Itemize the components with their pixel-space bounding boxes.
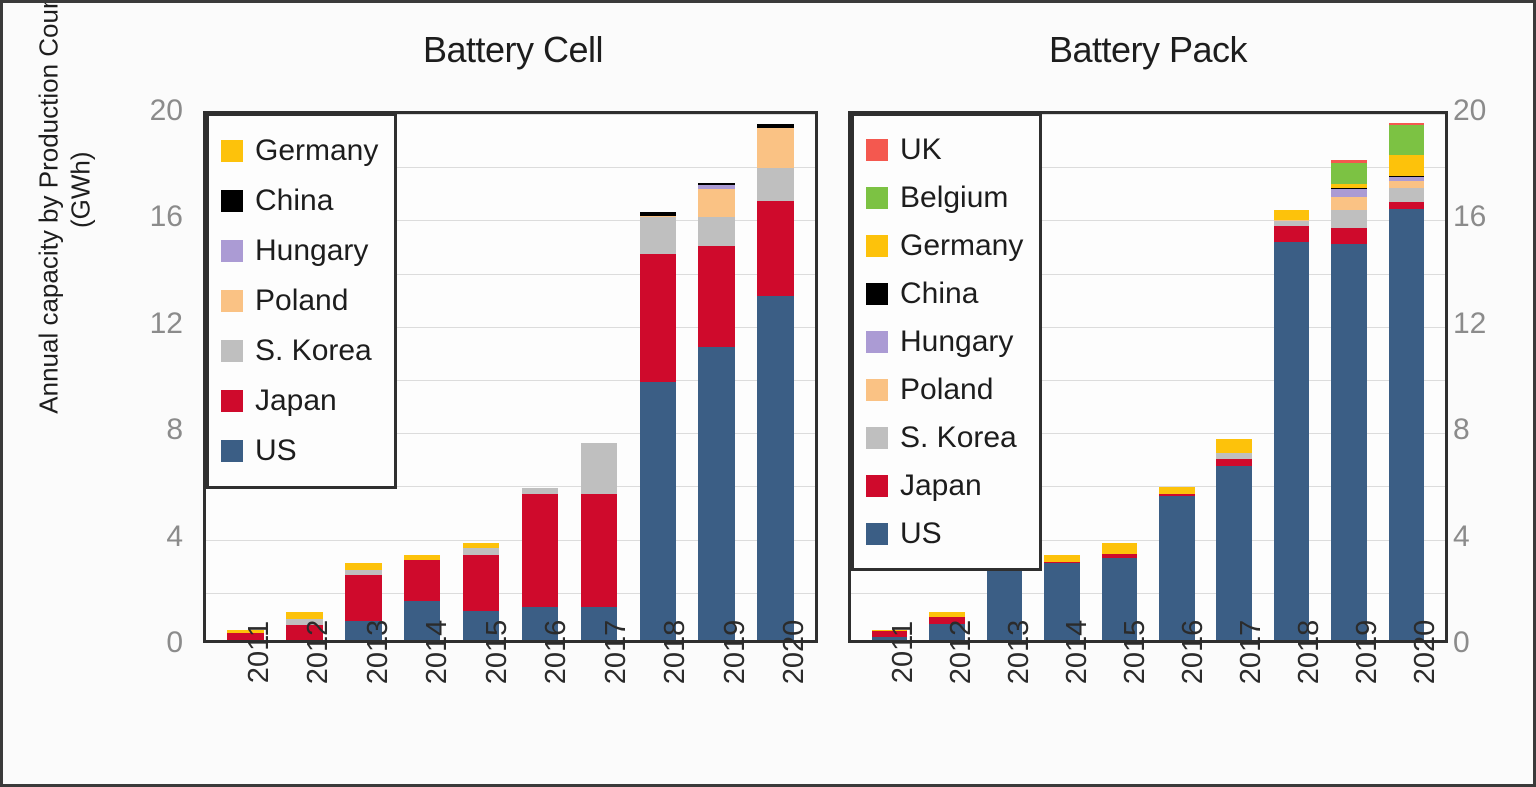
legend-swatch-icon (866, 475, 888, 497)
x-axis-labels-left: 2011201220132014201520162017201820192020 (203, 646, 818, 766)
x-tick-slot-2017: 2017 (1206, 646, 1264, 766)
bar-segment-belgium-2019 (1331, 163, 1367, 184)
stacked-bar-2016[interactable] (522, 488, 559, 640)
stacked-bar-2020[interactable] (757, 124, 794, 640)
y-tick-label-left-4: 4 (121, 522, 183, 552)
bar-segment-skorea-2020 (1389, 188, 1425, 203)
x-tick-slot-2016: 2016 (1148, 646, 1206, 766)
legend-item-china[interactable]: China (221, 176, 378, 226)
bar-slot-2019 (687, 114, 746, 640)
legend-item-us[interactable]: US (221, 426, 378, 476)
legend-label: Japan (900, 471, 982, 501)
bar-segment-us-2017 (1216, 466, 1252, 640)
bar-segment-poland-2019 (698, 189, 735, 217)
page-title-battery-cell: Battery Cell (183, 29, 843, 71)
legend-label: Hungary (900, 327, 1013, 357)
x-tick-slot-2015: 2015 (1090, 646, 1148, 766)
x-tick-slot-2015: 2015 (451, 646, 511, 766)
legend-swatch-icon (221, 190, 243, 212)
bar-segment-japan-2013 (345, 575, 382, 622)
x-tick-slot-2014: 2014 (392, 646, 452, 766)
bar-segment-us-2019 (1331, 244, 1367, 640)
bar-slot-2015 (452, 114, 511, 640)
bar-segment-japan-2019 (1331, 228, 1367, 244)
legend-label: Germany (900, 231, 1023, 261)
bar-segment-skorea-2015 (463, 548, 500, 555)
bar-slot-2018 (1263, 114, 1320, 640)
legend-battery-pack: UKBelgiumGermanyChinaHungaryPolandS. Kor… (851, 113, 1042, 571)
bar-segment-germany-2020 (1389, 155, 1425, 176)
legend-item-us[interactable]: US (866, 510, 1023, 558)
x-tick-slot-2018: 2018 (630, 646, 690, 766)
legend-battery-cell: GermanyChinaHungaryPolandS. KoreaJapanUS (206, 113, 397, 489)
bar-segment-us-2019 (698, 347, 735, 640)
bar-segment-japan-2015 (463, 555, 500, 611)
bar-segment-japan-2016 (522, 494, 559, 607)
legend-item-germany[interactable]: Germany (866, 222, 1023, 270)
y-tick-label-right-4: 4 (1453, 522, 1515, 552)
legend-label: Poland (255, 286, 348, 316)
bar-slot-2020 (1378, 114, 1435, 640)
bar-segment-germany-2014 (1044, 555, 1080, 562)
bar-segment-skorea-2019 (1331, 210, 1367, 227)
x-tick-label-2015: 2015 (481, 620, 514, 685)
legend-label: US (900, 519, 942, 549)
bar-segment-germany-2015 (1102, 543, 1138, 554)
x-tick-slot-2013: 2013 (974, 646, 1032, 766)
bar-segment-skorea-2017 (1216, 453, 1252, 460)
legend-swatch-icon (866, 331, 888, 353)
legend-label: Poland (900, 375, 993, 405)
y-axis-ticks-right: 048121620 (1453, 3, 1515, 787)
bar-slot-2016 (511, 114, 570, 640)
legend-item-japan[interactable]: Japan (866, 462, 1023, 510)
legend-item-uk[interactable]: UK (866, 126, 1023, 174)
y-tick-label-left-16: 16 (121, 202, 183, 232)
bar-slot-2018 (628, 114, 687, 640)
x-tick-slot-2020: 2020 (749, 646, 809, 766)
stacked-bar-2017[interactable] (1216, 439, 1252, 640)
x-tick-slot-2011: 2011 (213, 646, 273, 766)
figure-container: Battery Cell Battery Pack Annual capacit… (0, 0, 1536, 787)
bar-segment-skorea-2019 (698, 217, 735, 246)
bar-segment-poland-2020 (757, 128, 794, 168)
x-tick-slot-2017: 2017 (570, 646, 630, 766)
bar-segment-us-2018 (640, 382, 677, 640)
x-tick-label-2013: 2013 (362, 620, 395, 685)
x-axis-labels-right: 2011201220132014201520162017201820192020 (848, 646, 1448, 766)
stacked-bar-2018[interactable] (640, 212, 677, 640)
y-axis-title: Annual capacity by Production Country (G… (33, 0, 96, 420)
x-tick-slot-2018: 2018 (1264, 646, 1322, 766)
y-tick-label-left-8: 8 (121, 415, 183, 445)
legend-swatch-icon (866, 139, 888, 161)
stacked-bar-2019[interactable] (1331, 160, 1367, 640)
stacked-bar-2020[interactable] (1389, 123, 1425, 640)
legend-swatch-icon (221, 290, 243, 312)
legend-item-skorea[interactable]: S. Korea (221, 326, 378, 376)
bar-segment-hungary-2019 (1331, 189, 1367, 197)
bar-slot-2015 (1091, 114, 1148, 640)
legend-label: UK (900, 135, 942, 165)
x-tick-slot-2016: 2016 (511, 646, 571, 766)
stacked-bar-2019[interactable] (698, 183, 735, 640)
legend-label: China (255, 186, 333, 216)
legend-swatch-icon (221, 440, 243, 462)
legend-label: Japan (255, 386, 337, 416)
bar-segment-germany-2013 (345, 563, 382, 570)
x-tick-slot-2014: 2014 (1032, 646, 1090, 766)
x-tick-slot-2012: 2012 (273, 646, 333, 766)
y-tick-label-right-12: 12 (1453, 309, 1515, 339)
legend-label: China (900, 279, 978, 309)
legend-label: US (255, 436, 297, 466)
bar-segment-japan-2017 (1216, 459, 1252, 466)
x-tick-slot-2011: 2011 (858, 646, 916, 766)
x-tick-label-2020: 2020 (1409, 620, 1442, 685)
bar-segment-skorea-2017 (581, 443, 618, 494)
x-tick-label-2020: 2020 (778, 620, 811, 685)
x-tick-label-2019: 2019 (719, 620, 752, 685)
legend-swatch-icon (221, 390, 243, 412)
legend-label: S. Korea (255, 336, 372, 366)
legend-label: Hungary (255, 236, 368, 266)
bar-segment-skorea-2018 (640, 217, 677, 254)
y-tick-label-right-0: 0 (1453, 628, 1515, 658)
legend-label: Belgium (900, 183, 1008, 213)
y-axis-ticks-left: 048121620 (121, 3, 183, 787)
stacked-bar-2016[interactable] (1159, 487, 1195, 640)
bar-slot-2017 (1205, 114, 1262, 640)
legend-item-skorea[interactable]: S. Korea (866, 414, 1023, 462)
bar-segment-us-2016 (1159, 496, 1195, 640)
legend-item-poland[interactable]: Poland (866, 366, 1023, 414)
bar-segment-us-2020 (757, 296, 794, 640)
bar-segment-poland-2020 (1389, 181, 1425, 188)
bar-slot-2017 (569, 114, 628, 640)
bar-segment-japan-2017 (581, 494, 618, 607)
legend-swatch-icon (866, 427, 888, 449)
x-tick-slot-2013: 2013 (332, 646, 392, 766)
x-tick-label-2011: 2011 (243, 621, 276, 683)
legend-swatch-icon (221, 240, 243, 262)
legend-item-belgium[interactable]: Belgium (866, 174, 1023, 222)
stacked-bar-2017[interactable] (581, 443, 618, 640)
bar-segment-japan-2019 (698, 246, 735, 347)
bar-segment-japan-2014 (404, 560, 441, 601)
bar-segment-japan-2020 (1389, 202, 1425, 209)
y-tick-label-right-20: 20 (1453, 96, 1515, 126)
x-tick-slot-2020: 2020 (1380, 646, 1438, 766)
bar-segment-germany-2017 (1216, 439, 1252, 452)
bar-segment-japan-2018 (640, 254, 677, 382)
bar-segment-germany-2012 (286, 612, 323, 619)
bar-slot-2016 (1148, 114, 1205, 640)
x-tick-label-2016: 2016 (540, 620, 573, 685)
bar-segment-us-2020 (1389, 209, 1425, 640)
bar-segment-japan-2018 (1274, 226, 1310, 242)
x-tick-slot-2019: 2019 (689, 646, 749, 766)
legend-label: Germany (255, 136, 378, 166)
bar-segment-japan-2020 (757, 201, 794, 295)
legend-item-china[interactable]: China (866, 270, 1023, 318)
legend-swatch-icon (866, 235, 888, 257)
legend-label: S. Korea (900, 423, 1017, 453)
legend-item-germany[interactable]: Germany (221, 126, 378, 176)
legend-swatch-icon (221, 140, 243, 162)
x-tick-label-2012: 2012 (302, 620, 335, 685)
legend-item-japan[interactable]: Japan (221, 376, 378, 426)
legend-swatch-icon (866, 523, 888, 545)
legend-item-hungary[interactable]: Hungary (866, 318, 1023, 366)
bar-slot-2014 (393, 114, 452, 640)
bar-segment-belgium-2020 (1389, 125, 1425, 154)
legend-swatch-icon (866, 187, 888, 209)
page-title-battery-pack: Battery Pack (848, 29, 1448, 71)
bar-segment-germany-2018 (1274, 210, 1310, 219)
bar-slot-2019 (1320, 114, 1377, 640)
y-tick-label-right-16: 16 (1453, 202, 1515, 232)
y-tick-label-right-8: 8 (1453, 415, 1515, 445)
x-tick-label-2014: 2014 (421, 620, 454, 685)
legend-swatch-icon (866, 379, 888, 401)
y-tick-label-left-20: 20 (121, 96, 183, 126)
bar-slot-2020 (746, 114, 805, 640)
legend-item-poland[interactable]: Poland (221, 276, 378, 326)
legend-item-hungary[interactable]: Hungary (221, 226, 378, 276)
x-tick-slot-2012: 2012 (916, 646, 974, 766)
bar-segment-skorea-2020 (757, 168, 794, 201)
stacked-bar-2018[interactable] (1274, 210, 1310, 640)
bar-segment-germany-2016 (1159, 487, 1195, 494)
x-tick-label-2018: 2018 (659, 620, 692, 685)
bar-segment-poland-2019 (1331, 197, 1367, 210)
bar-segment-us-2018 (1274, 242, 1310, 640)
x-tick-slot-2019: 2019 (1322, 646, 1380, 766)
y-tick-label-left-0: 0 (121, 628, 183, 658)
legend-swatch-icon (221, 340, 243, 362)
y-tick-label-left-12: 12 (121, 309, 183, 339)
legend-swatch-icon (866, 283, 888, 305)
x-tick-label-2017: 2017 (600, 620, 633, 685)
